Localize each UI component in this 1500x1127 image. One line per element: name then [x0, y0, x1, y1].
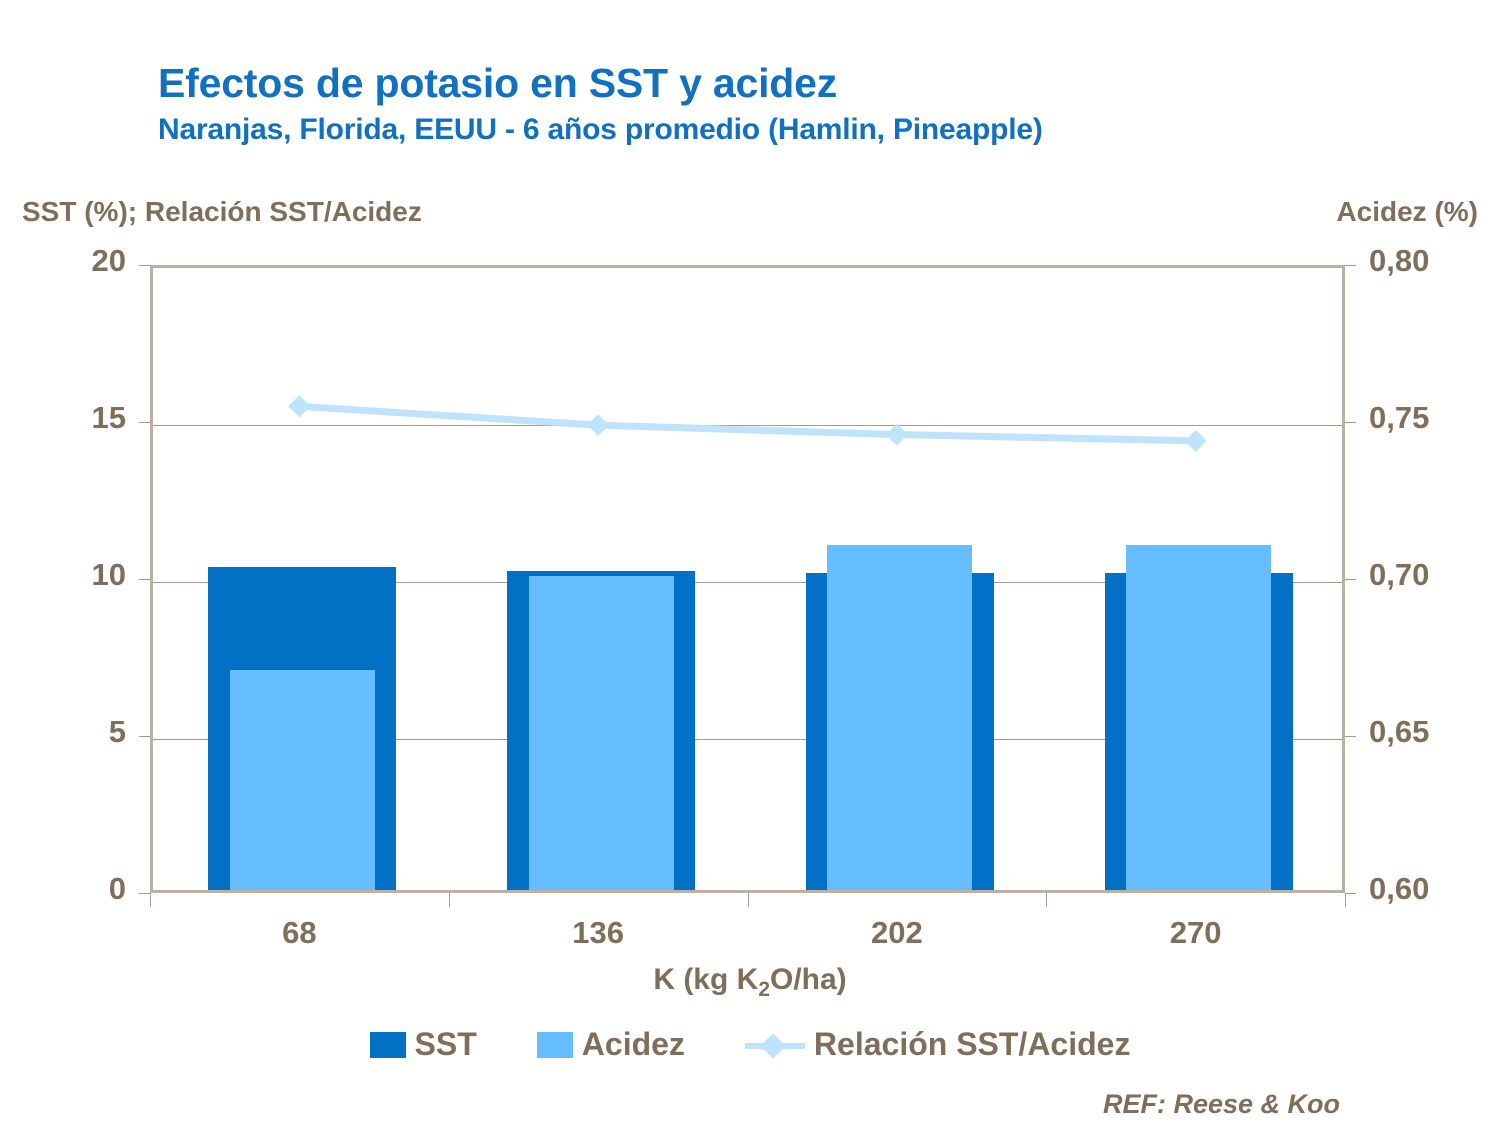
legend-swatch-icon: [370, 1032, 406, 1058]
y-axis-label-left: 10: [0, 557, 126, 593]
x-axis-tick: [1046, 893, 1047, 907]
y-axis-label-right: 0,70: [1369, 557, 1429, 593]
y-axis-label-right: 0,65: [1369, 714, 1429, 750]
x-axis-tick: [748, 893, 749, 907]
legend-label: Relación SST/Acidez: [814, 1026, 1131, 1063]
x-axis-tick: [449, 893, 450, 907]
y-axis-label-right: 0,75: [1369, 400, 1429, 436]
legend-item[interactable]: SST: [370, 1026, 477, 1063]
bar-acidez: [230, 670, 375, 890]
x-axis-title-pre: K (kg K: [653, 963, 758, 996]
y-axis-tick-right: [1345, 422, 1356, 423]
y-axis-tick-left: [139, 579, 150, 580]
y-axis-tick-left: [139, 422, 150, 423]
chart-canvas: 00,6050,65100,70150,75200,8068136202270: [0, 0, 1500, 1127]
y-axis-tick-left: [139, 736, 150, 737]
x-axis-tick: [150, 893, 151, 907]
x-axis-tick: [1345, 893, 1346, 907]
y-axis-label-left: 20: [0, 243, 126, 279]
y-axis-tick-left: [139, 265, 150, 266]
y-axis-tick-right: [1345, 579, 1356, 580]
y-axis-label-right: 0,60: [1369, 871, 1429, 907]
x-axis-label: 68: [199, 915, 399, 951]
x-axis-label: 270: [1096, 915, 1296, 951]
chart-legend: SSTAcidezRelación SST/Acidez: [0, 1026, 1500, 1063]
legend-swatch-icon: [537, 1032, 573, 1058]
y-axis-tick-right: [1345, 265, 1356, 266]
x-axis-title-post: O/ha): [770, 963, 847, 996]
gridline: [153, 425, 1342, 426]
y-axis-tick-right: [1345, 736, 1356, 737]
x-axis-title: K (kg K2O/ha): [0, 963, 1500, 1002]
reference-note: REF: Reese & Koo: [1103, 1089, 1340, 1120]
y-axis-label-left: 5: [0, 714, 126, 750]
legend-item[interactable]: Acidez: [537, 1026, 685, 1063]
legend-line-diamond-icon: [745, 1032, 805, 1058]
legend-item[interactable]: Relación SST/Acidez: [745, 1026, 1131, 1063]
y-axis-tick-right: [1345, 893, 1356, 894]
bar-acidez: [1126, 545, 1271, 890]
x-axis-label: 202: [797, 915, 997, 951]
y-axis-tick-left: [139, 893, 150, 894]
x-axis-label: 136: [498, 915, 698, 951]
x-axis-title-subscript: 2: [758, 978, 770, 1001]
y-axis-label-right: 0,80: [1369, 243, 1429, 279]
legend-label: Acidez: [582, 1026, 685, 1063]
bar-acidez: [529, 576, 674, 890]
legend-diamond-marker: [760, 1033, 785, 1058]
bar-acidez: [827, 545, 972, 890]
y-axis-label-left: 15: [0, 400, 126, 436]
y-axis-label-left: 0: [0, 871, 126, 907]
plot-area: [150, 265, 1345, 893]
legend-label: SST: [415, 1026, 477, 1063]
